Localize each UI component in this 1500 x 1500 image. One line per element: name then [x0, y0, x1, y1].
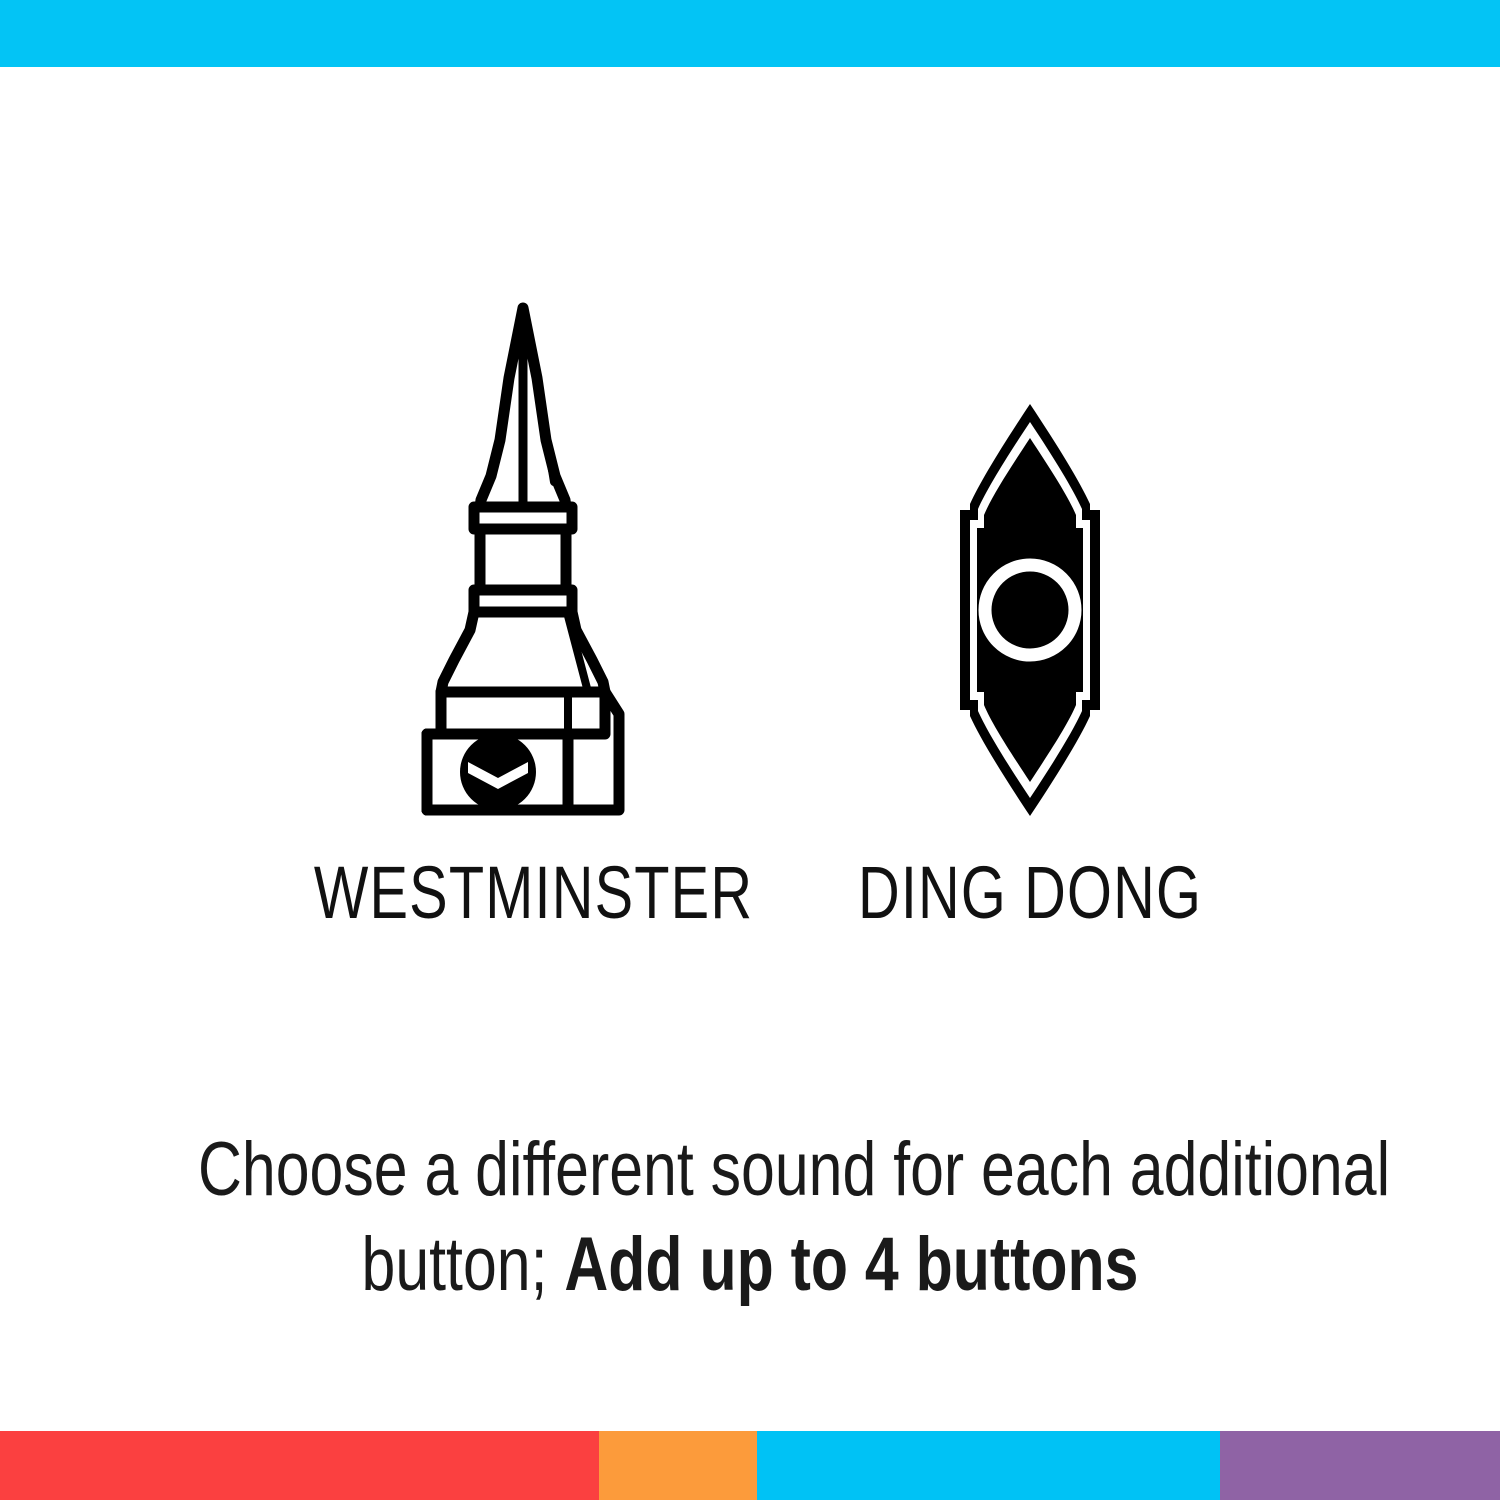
- top-accent-bar: [0, 0, 1500, 67]
- sound-option-label-ding-dong: DING DONG: [851, 856, 1210, 930]
- doorbell-button-icon: [940, 400, 1120, 820]
- caption-line-2-bold: Add up to 4 buttons: [564, 1222, 1138, 1307]
- caption-line-1: Choose a different sound for each additi…: [198, 1122, 1302, 1217]
- sound-option-ding-dong[interactable]: DING DONG: [800, 300, 1260, 930]
- bottom-accent-segment-purple: [1220, 1431, 1500, 1500]
- bottom-accent-segment-orange: [599, 1431, 757, 1500]
- caption-line-2: button; Add up to 4 buttons: [198, 1217, 1302, 1312]
- clock-face: [460, 734, 536, 810]
- caption-text: Choose a different sound for each additi…: [60, 1122, 1440, 1312]
- bottom-accent-segment-red: [0, 1431, 599, 1500]
- sound-options-row: WESTMINSTER DING DONG: [0, 300, 1500, 960]
- caption-line-1-text: Choose a different sound for each additi…: [198, 1127, 1390, 1212]
- clock-tower-icon: [408, 300, 638, 820]
- sound-option-westminster[interactable]: WESTMINSTER: [255, 300, 790, 930]
- product-feature-card: WESTMINSTER DING DONG Choose a: [0, 0, 1500, 1500]
- caption-line-2-light: button;: [362, 1222, 565, 1307]
- bottom-accent-segment-cyan: [757, 1431, 1220, 1500]
- bottom-accent-bar: [0, 1431, 1500, 1500]
- sound-option-label-westminster: WESTMINSTER: [314, 856, 731, 930]
